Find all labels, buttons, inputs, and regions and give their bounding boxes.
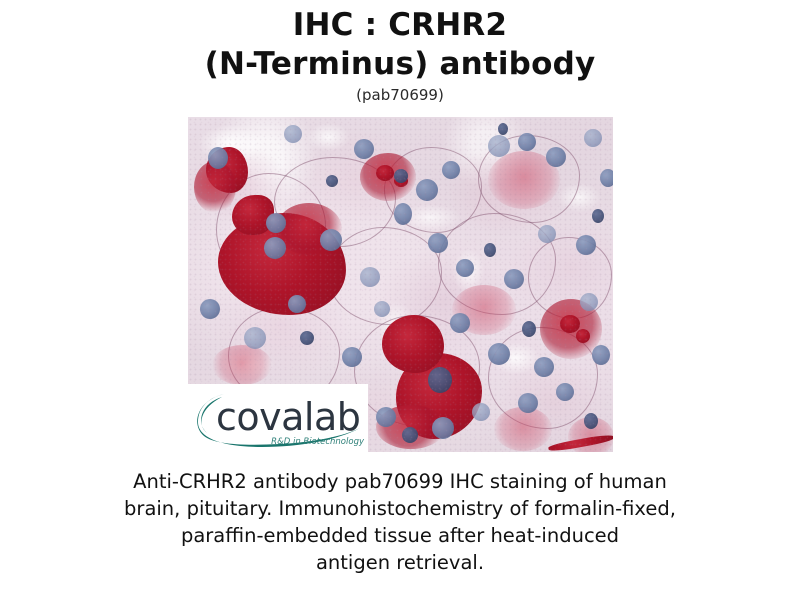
ihc-micrograph-image: covalab R&D in Biotechnology: [188, 117, 613, 452]
caption-line-2: brain, pituitary. Immunohistochemistry o…: [60, 495, 740, 522]
catalog-number: (pab70699): [0, 85, 800, 105]
figure-page: IHC : CRHR2 (N-Terminus) antibody (pab70…: [0, 0, 800, 600]
page-title-line-1: IHC : CRHR2: [0, 6, 800, 45]
caption-line-3: paraffin-embedded tissue after heat-indu…: [60, 522, 740, 549]
covalab-logo-svg: covalab R&D in Biotechnology: [188, 384, 368, 452]
logo-wordmark: covalab: [216, 395, 360, 439]
covalab-logo-watermark: covalab R&D in Biotechnology: [188, 384, 368, 452]
caption-line-1: Anti-CRHR2 antibody pab70699 IHC stainin…: [60, 468, 740, 495]
figure-caption: Anti-CRHR2 antibody pab70699 IHC stainin…: [60, 468, 740, 576]
page-title-line-2: (N-Terminus) antibody: [0, 45, 800, 84]
figure-title-block: IHC : CRHR2 (N-Terminus) antibody (pab70…: [0, 6, 800, 105]
logo-tagline: R&D in Biotechnology: [271, 437, 365, 447]
caption-line-4: antigen retrieval.: [60, 549, 740, 576]
